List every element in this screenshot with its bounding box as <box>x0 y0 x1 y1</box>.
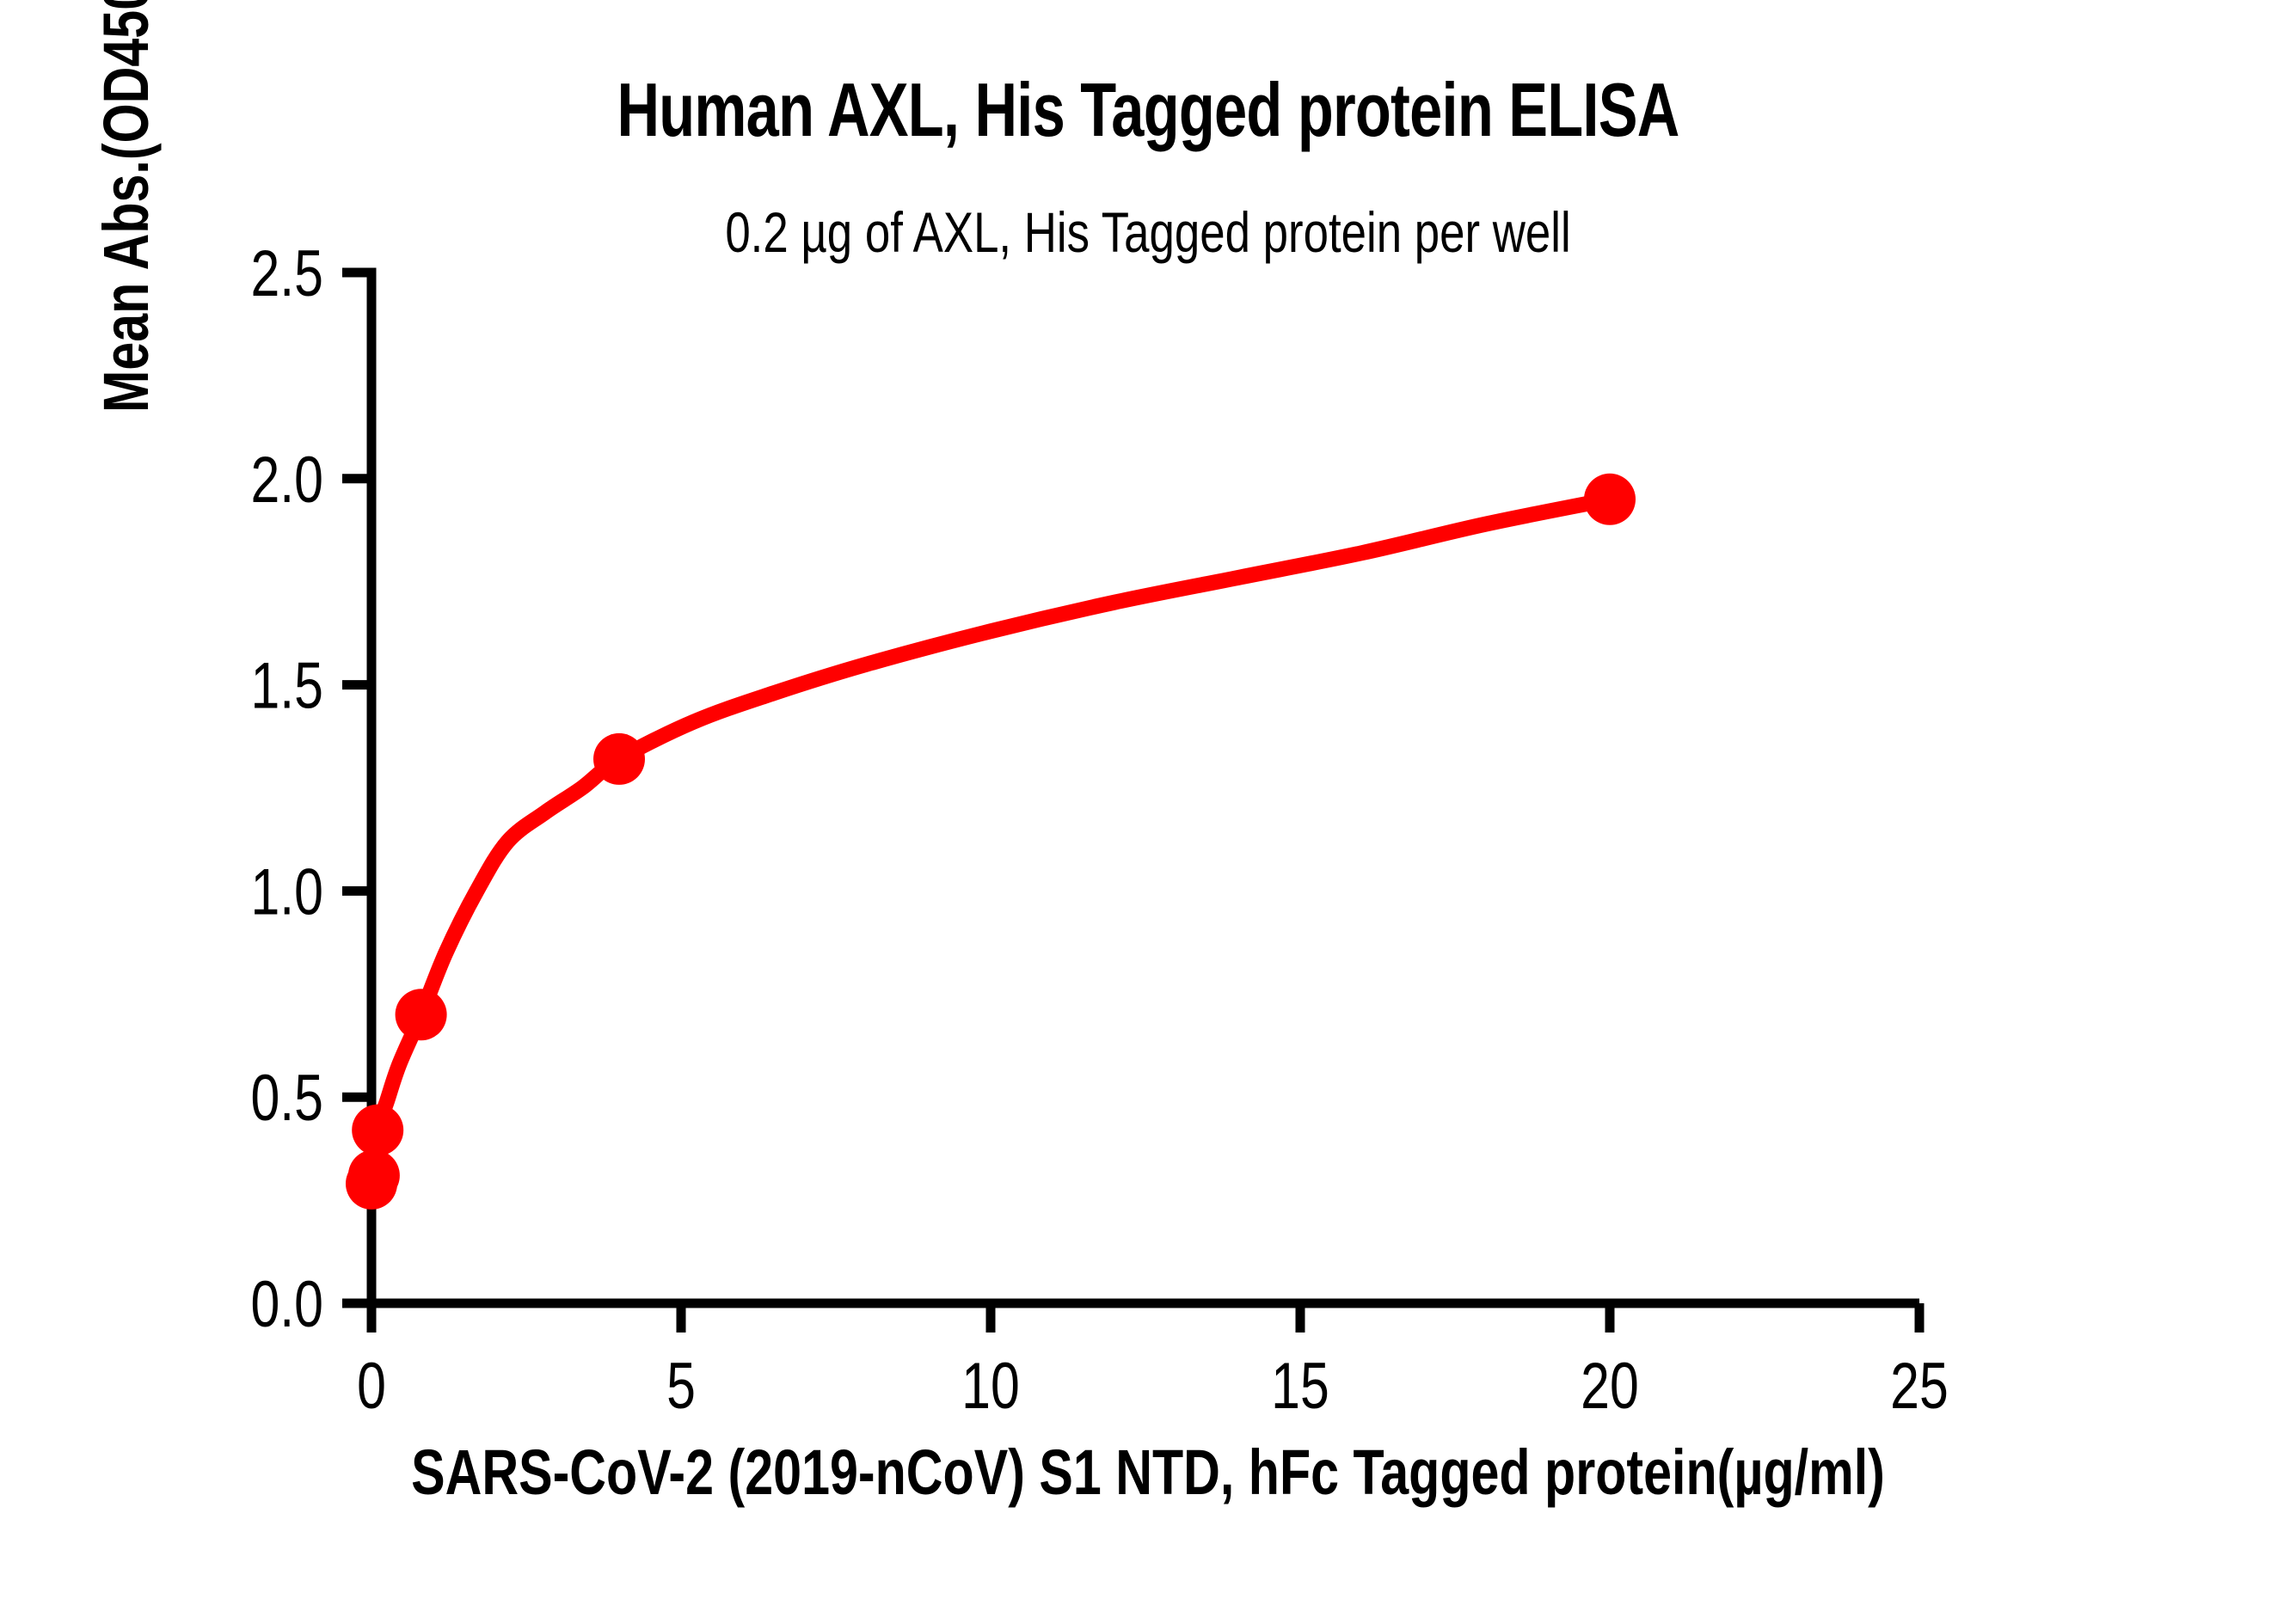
y-tick-label: 2.0 <box>250 443 323 516</box>
data-point-marker[interactable] <box>593 733 645 785</box>
x-tick-label: 15 <box>1271 1350 1329 1423</box>
y-tick-label: 2.5 <box>250 237 323 310</box>
y-tick-label: 0.5 <box>250 1062 323 1135</box>
series-line <box>371 499 1610 1184</box>
data-point-marker[interactable] <box>352 1105 403 1156</box>
chart-page: Human AXL, His Tagged protein ELISA 0.2 … <box>0 0 2296 1599</box>
x-tick-label: 25 <box>1890 1350 1949 1423</box>
data-point-marker[interactable] <box>396 989 447 1040</box>
y-tick-label: 1.5 <box>250 649 323 722</box>
data-point-marker[interactable] <box>348 1149 400 1201</box>
y-tick-label: 0.0 <box>250 1268 323 1341</box>
plot-area: 0.00.51.01.52.02.50510152025 <box>0 0 2296 1599</box>
x-tick-label: 5 <box>666 1350 696 1423</box>
x-tick-label: 20 <box>1581 1350 1639 1423</box>
y-tick-label: 1.0 <box>250 855 323 928</box>
x-tick-label: 10 <box>961 1350 1020 1423</box>
data-point-marker[interactable] <box>1584 474 1636 525</box>
x-tick-label: 0 <box>357 1350 386 1423</box>
